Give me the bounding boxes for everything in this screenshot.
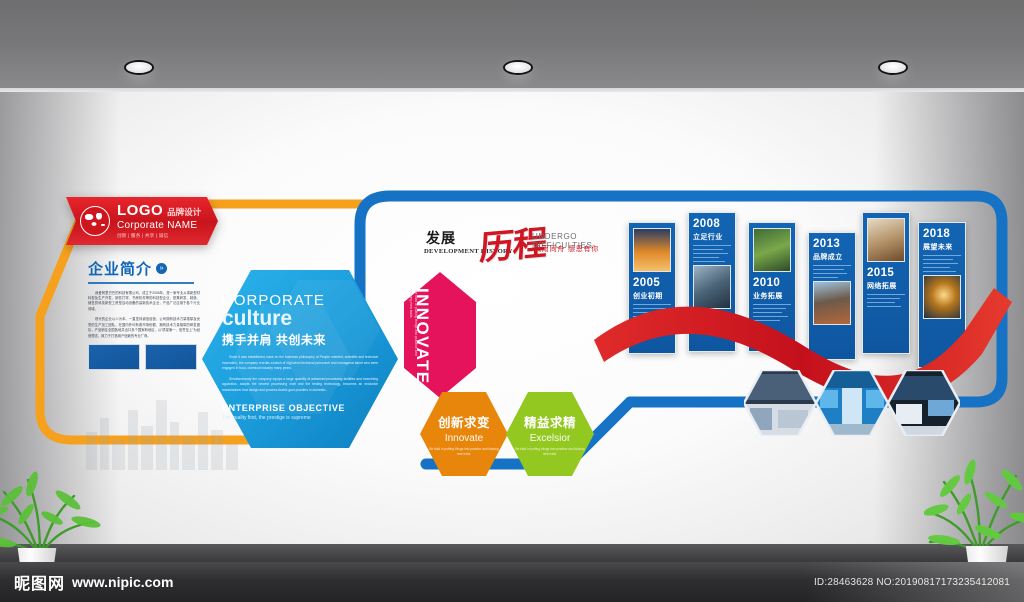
culture-objective-sub: The quality first, the prestige is supre… — [222, 415, 378, 421]
nipic-brand-cn: 昵图网 — [14, 570, 65, 594]
timeline-panel[interactable]: 2013 品牌成立 — [808, 232, 856, 360]
chevron-right-icon: » — [156, 263, 167, 274]
timeline-title: 业务拓展 — [753, 291, 791, 301]
timeline-photo — [753, 228, 791, 272]
ceiling-spotlight-icon — [880, 62, 906, 73]
hex-desc: Be bold in putting things into practice … — [428, 447, 500, 457]
timeline-photo — [633, 228, 671, 272]
culture-body-paragraph: Simultaneously the company equips a larg… — [222, 377, 378, 394]
timeline-panel[interactable]: 2018 展望未来 — [918, 222, 966, 368]
culture-objective-title: ENTERPRISE OBJECTIVE — [222, 403, 378, 413]
intro-photo-row — [88, 344, 200, 370]
nipic-url[interactable]: www.nipic.com — [72, 574, 173, 590]
timeline-text-lines — [813, 265, 851, 278]
dev-title-cn: 发展 — [426, 228, 456, 248]
timeline-photo — [693, 265, 731, 309]
intro-title-text: 企业简介 — [88, 258, 152, 279]
timeline-text-lines — [923, 255, 961, 272]
logo-corporate-name: Corporate NAME — [117, 221, 201, 231]
intro-divider — [88, 282, 194, 284]
hex-desc: Be bold in putting things into practice … — [514, 447, 586, 457]
timeline-text-lines — [633, 304, 671, 321]
hex-en-title: Innovate — [445, 433, 483, 444]
intro-paragraph: 现代的企业以人为本、一直坚持诚信经营，公司拥有技术力量雄厚及优秀的生产加工团队，… — [88, 317, 200, 339]
timeline-year: 2018 — [923, 228, 961, 241]
potted-palm-left — [0, 452, 102, 562]
hex-en-title: Excelsior — [530, 433, 571, 444]
timeline-title: 立足行业 — [693, 232, 731, 242]
intro-photo-placeholder — [88, 344, 140, 370]
ceiling-spotlight-icon — [505, 62, 531, 73]
timeline-title: 网络拓展 — [867, 281, 905, 291]
intro-heading: 企业简介 » — [88, 258, 200, 279]
scene-root: LOGO 品牌设计 Corporate NAME 创新 | 服务 | 共享 | … — [0, 0, 1024, 602]
culture-en-accent: culture — [222, 308, 378, 329]
baseboard — [0, 544, 1024, 562]
hexagon-excelsior-cn: 精益求精 Excelsior Be bold in putting things… — [506, 392, 594, 476]
ceiling — [0, 0, 1024, 92]
timeline-year: 2010 — [753, 277, 791, 290]
logo-main-text: LOGO — [117, 203, 163, 218]
timeline-year: 2005 — [633, 277, 671, 290]
logo-cn-text: 品牌设计 — [167, 208, 201, 217]
corporate-culture-hexagon: CORPORATE culture 携手并肩 共创未来 Since it was… — [202, 270, 398, 448]
development-history-title: 发展 DEVELOPMENT HISTORY 历程 UNDERGO DIFFIC… — [424, 222, 614, 268]
intro-paragraph: 我爱阿里巴巴的科技有限公司，成立于2006年，是一家专业从事新型材料型及生产开发… — [88, 291, 200, 313]
innovate-hexagon: INNOVATE Be bold in putting things into … — [404, 272, 476, 398]
logo-badge[interactable]: LOGO 品牌设计 Corporate NAME 创新 | 服务 | 共享 | … — [66, 197, 218, 245]
timeline-year: 2015 — [867, 267, 905, 280]
hex-cn-title: 创新求变 — [438, 412, 490, 431]
timeline-photo — [867, 218, 905, 262]
timeline-photo — [813, 281, 851, 325]
hex-cn-title: 精益求精 — [524, 412, 576, 431]
logo-tagline: 创新 | 服务 | 共享 | 诚信 — [117, 234, 201, 239]
photo-hexagon[interactable] — [816, 370, 888, 436]
timeline-panel[interactable]: 2015 网络拓展 — [862, 212, 910, 354]
photo-hexagon[interactable] — [744, 370, 816, 436]
potted-palm-right — [924, 438, 1024, 562]
culture-body-paragraph: Since it was established, base on the bu… — [222, 355, 378, 372]
watermark-footer: 昵图网 www.nipic.com ID:28463628 NO:2019081… — [0, 562, 1024, 602]
globe-icon — [80, 206, 110, 236]
photo-hexagon[interactable] — [888, 370, 960, 436]
dev-right-cn: 风雨同舟 感恩有你 — [534, 244, 599, 254]
intro-body: 我爱阿里巴巴的科技有限公司，成立于2006年，是一家专业从事新型材料型及生产开发… — [88, 291, 200, 340]
timeline-text-lines — [867, 294, 905, 307]
timeline-panel[interactable]: 2010 业务拓展 — [748, 222, 796, 352]
timeline-year: 2013 — [813, 238, 851, 251]
image-id-text: ID:28463628 NO:20190817173235412081 — [814, 577, 1010, 588]
hexagon-innovate-cn: 创新求变 Innovate Be bold in putting things … — [420, 392, 508, 476]
timeline-photo — [923, 275, 961, 319]
ceiling-spotlight-icon — [126, 62, 152, 73]
timeline-title: 展望未来 — [923, 242, 961, 252]
timeline-year: 2008 — [693, 218, 731, 231]
timeline-panel[interactable]: 2008 立足行业 — [688, 212, 736, 352]
innovate-subtext: Be bold in putting things into practice … — [407, 290, 418, 364]
company-intro-block: 企业简介 » 我爱阿里巴巴的科技有限公司，成立于2006年，是一家专业从事新型材… — [88, 258, 200, 370]
timeline-text-lines — [753, 304, 791, 321]
culture-cn-slogan: 携手并肩 共创未来 — [222, 331, 378, 348]
timeline-title: 品牌成立 — [813, 252, 851, 262]
intro-photo-placeholder — [145, 344, 197, 370]
timeline-title: 创业初期 — [633, 291, 671, 301]
timeline-panel[interactable]: 2005 创业初期 — [628, 222, 676, 354]
timeline-text-lines — [693, 245, 731, 262]
